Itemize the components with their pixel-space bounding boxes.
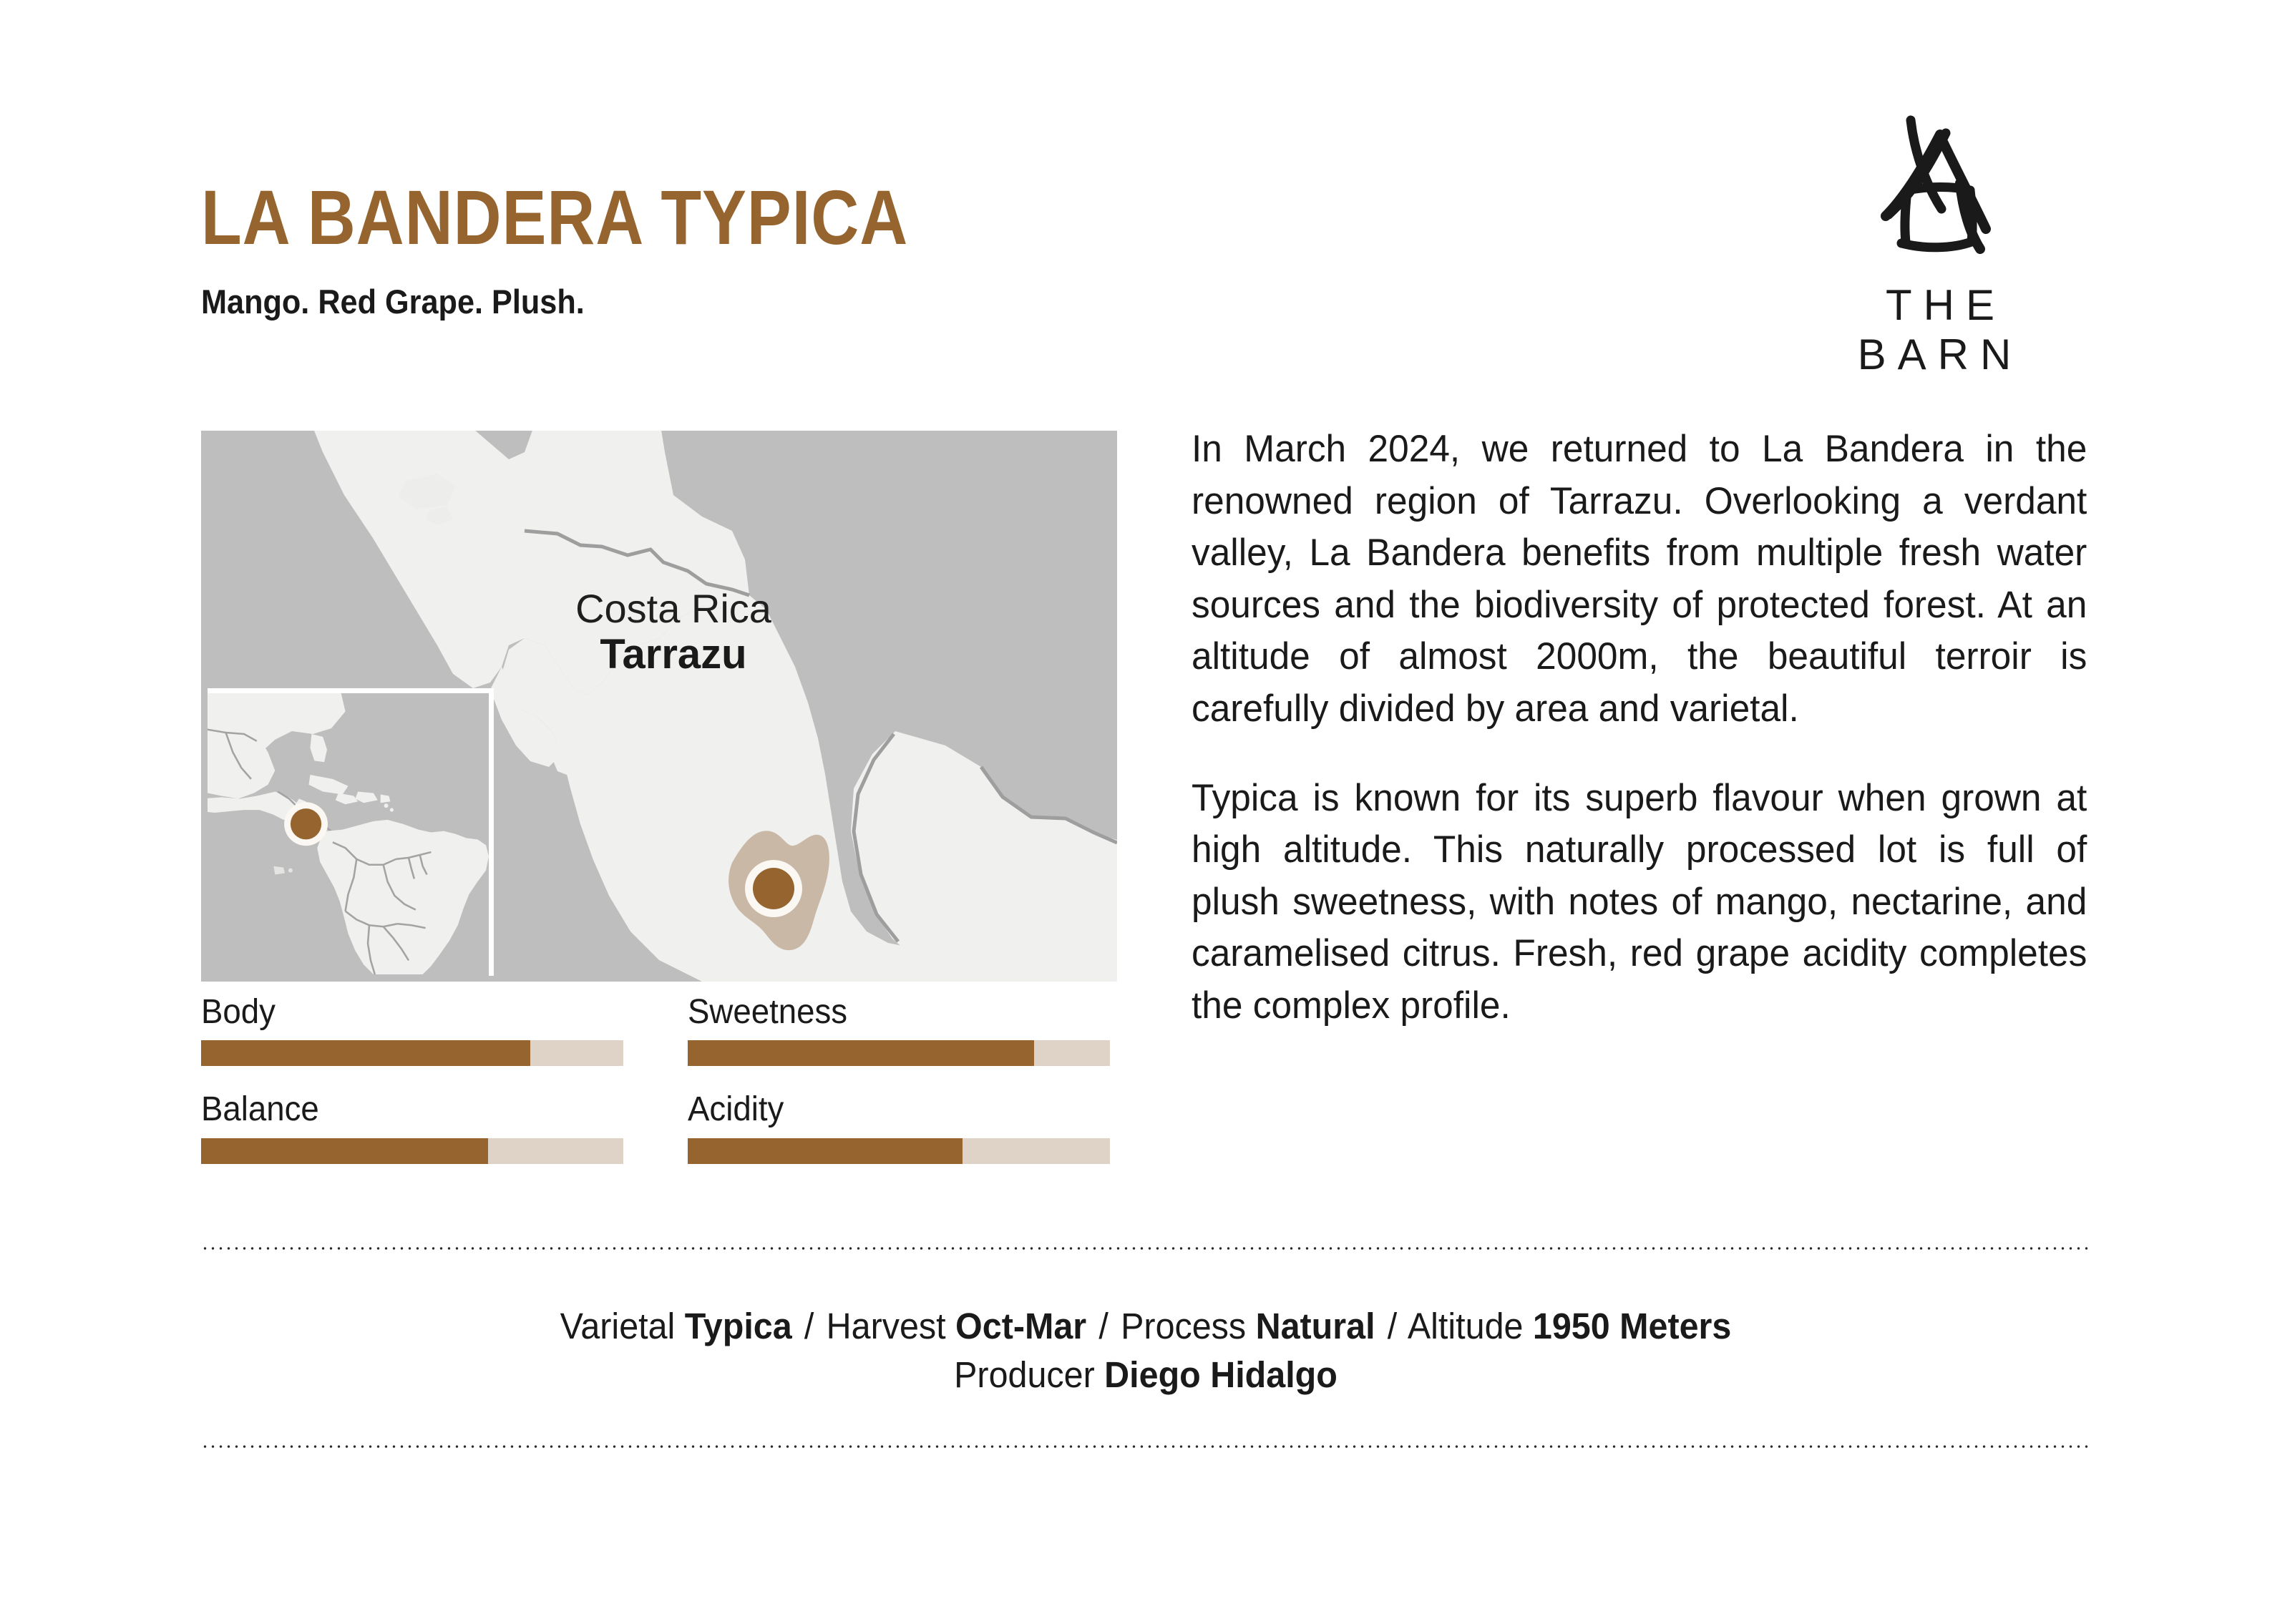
spec-separator: / xyxy=(801,1306,817,1346)
attribute-row: Balance Acidity xyxy=(201,1092,1121,1163)
page-title: LA BANDERA TYPICA xyxy=(201,179,908,256)
spec-key-harvest: Harvest xyxy=(827,1306,946,1346)
attribute-label: Acidity xyxy=(688,1092,1089,1127)
attribute-fill xyxy=(201,1138,488,1164)
description-paragraph-1: In March 2024, we returned to La Bandera… xyxy=(1192,424,2087,735)
attribute-bars: Body Sweetness Balance Acidity xyxy=(201,994,1121,1164)
location-dot-icon xyxy=(753,868,794,909)
attribute-fill xyxy=(688,1040,1034,1066)
producer-line: Producer Diego Hidalgo xyxy=(248,1351,2043,1399)
attribute-label: Sweetness xyxy=(688,994,1089,1030)
footer-divider-bottom xyxy=(201,1444,2090,1449)
tasting-notes: Mango. Red Grape. Plush. xyxy=(201,282,958,321)
spec-separator: / xyxy=(1385,1306,1400,1346)
description-paragraph-2: Typica is known for its superb flavour w… xyxy=(1192,773,2087,1032)
spec-value-altitude: 1950 Meters xyxy=(1533,1306,1731,1346)
spec-line: Varietal Typica / Harvest Oct-Mar / Proc… xyxy=(248,1302,2043,1351)
map-panel: Costa Rica Tarrazu xyxy=(201,431,1117,982)
attribute-balance: Balance xyxy=(201,1092,623,1163)
attribute-sweetness: Sweetness xyxy=(688,994,1110,1066)
producer-key: Producer xyxy=(954,1354,1095,1395)
coffee-label-page: LA BANDERA TYPICA Mango. Red Grape. Plus… xyxy=(0,0,2290,1624)
attribute-track xyxy=(688,1040,1110,1066)
attribute-track xyxy=(201,1138,623,1164)
attribute-label: Body xyxy=(201,994,603,1030)
attribute-acidity: Acidity xyxy=(688,1092,1110,1163)
spec-key-varietal: Varietal xyxy=(560,1306,676,1346)
spec-separator: / xyxy=(1096,1306,1111,1346)
spec-value-harvest: Oct-Mar xyxy=(955,1306,1086,1346)
location-dot-icon xyxy=(291,808,321,839)
barn-windmill-icon xyxy=(1833,114,2047,293)
map-inset xyxy=(208,688,494,976)
attribute-label: Balance xyxy=(201,1092,603,1127)
spec-value-varietal: Typica xyxy=(685,1306,792,1346)
attribute-track xyxy=(201,1040,623,1066)
spec-value-process: Natural xyxy=(1256,1306,1375,1346)
brand-name: THE BARN xyxy=(1790,280,2090,379)
americas-inset-map xyxy=(208,693,489,976)
spec-key-process: Process xyxy=(1121,1306,1246,1346)
attribute-fill xyxy=(688,1138,963,1164)
producer-value: Diego Hidalgo xyxy=(1104,1354,1338,1395)
attribute-body: Body xyxy=(201,994,623,1066)
description: In March 2024, we returned to La Bandera… xyxy=(1192,424,2115,1032)
attribute-track xyxy=(688,1138,1110,1164)
attribute-fill xyxy=(201,1040,530,1066)
footer-specs: Varietal Typica / Harvest Oct-Mar / Proc… xyxy=(201,1251,2090,1444)
spec-key-altitude: Altitude xyxy=(1408,1306,1524,1346)
attribute-row: Body Sweetness xyxy=(201,994,1121,1066)
header: LA BANDERA TYPICA Mango. Red Grape. Plus… xyxy=(201,179,2090,386)
footer: Varietal Typica / Harvest Oct-Mar / Proc… xyxy=(201,1246,2090,1449)
brand-logo: THE BARN xyxy=(1790,114,2090,379)
title-block: LA BANDERA TYPICA Mango. Red Grape. Plus… xyxy=(201,179,1023,321)
